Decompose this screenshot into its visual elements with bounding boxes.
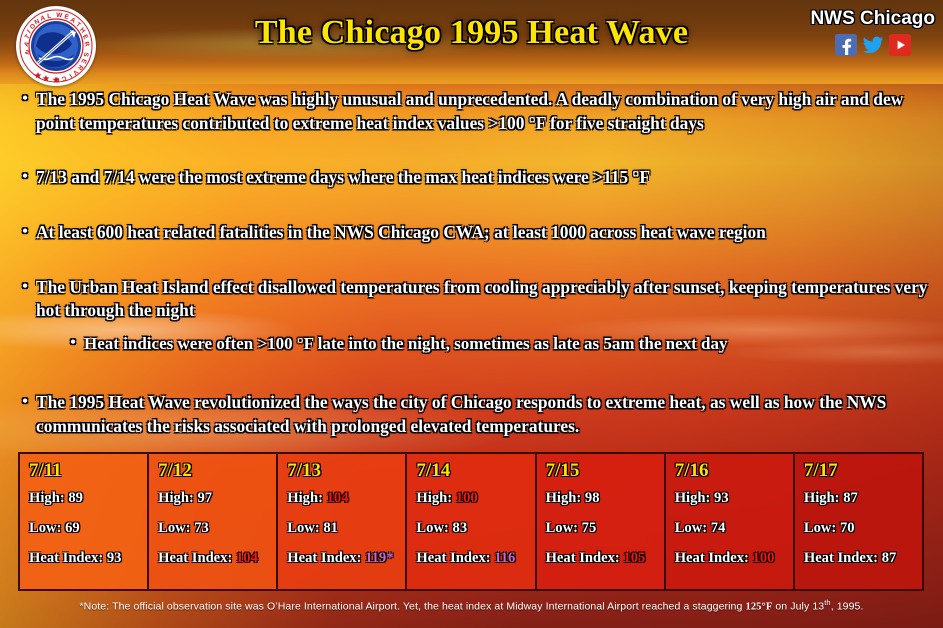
high-row: High: 100 — [416, 490, 525, 507]
low-value: 74 — [711, 520, 726, 536]
facebook-glyph — [835, 34, 857, 56]
heat-index-label: Heat Index: — [416, 550, 490, 566]
low-row: Low: 70 — [804, 520, 913, 537]
heat-index-row: Heat Index: 104 — [158, 550, 267, 567]
footnote-prefix: *Note: The official observation site was… — [79, 601, 745, 613]
low-label: Low: — [804, 520, 836, 536]
bullet-marker-icon: • — [14, 88, 36, 110]
low-label: Low: — [287, 520, 319, 536]
heat-index-label: Heat Index: — [546, 550, 620, 566]
high-row: High: 93 — [675, 490, 784, 507]
page-title: The Chicago 1995 Heat Wave — [0, 14, 943, 52]
list-item: • 7/13 and 7/14 were the most extreme da… — [14, 166, 934, 190]
heat-index-row: Heat Index: 105 — [546, 550, 655, 567]
high-label: High: — [804, 490, 840, 506]
column-date: 7/13 — [287, 460, 396, 482]
table-column-day-1: 7/11 High: 89 Low: 69 Heat Index: 93 — [20, 454, 149, 589]
low-label: Low: — [675, 520, 707, 536]
low-row: Low: 83 — [416, 520, 525, 537]
low-label: Low: — [546, 520, 578, 536]
bullet-marker-icon: • — [14, 276, 36, 298]
table-column-day-6: 7/16 High: 93 Low: 74 Heat Index: 100 — [666, 454, 795, 589]
daily-conditions-table: 7/11 High: 89 Low: 69 Heat Index: 93 7/1… — [18, 452, 924, 591]
slide-canvas: N A T I O N A L W E A T H E R S E — [0, 0, 943, 628]
heat-index-label: Heat Index: — [287, 550, 361, 566]
bullet-text: The 1995 Chicago Heat Wave was highly un… — [36, 88, 934, 135]
heat-index-label: Heat Index: — [158, 550, 232, 566]
high-row: High: 98 — [546, 490, 655, 507]
youtube-glyph — [889, 34, 911, 56]
high-value: 87 — [843, 490, 858, 506]
heat-index-row: Heat Index: 87 — [804, 550, 913, 567]
spacer — [14, 254, 934, 276]
low-label: Low: — [29, 520, 61, 536]
low-row: Low: 74 — [675, 520, 784, 537]
facebook-icon[interactable] — [835, 34, 857, 56]
heat-index-value: 116 — [494, 550, 515, 566]
footnote-mid: on July 13 — [772, 601, 824, 613]
high-value: 100 — [456, 490, 478, 506]
column-date: 7/11 — [29, 460, 138, 482]
high-row: High: 89 — [29, 490, 138, 507]
low-label: Low: — [158, 520, 190, 536]
bullet-text: At least 600 heat related fatalities in … — [36, 221, 934, 245]
high-row: High: 104 — [287, 490, 396, 507]
high-value: 89 — [68, 490, 83, 506]
social-links — [810, 34, 935, 56]
spacer — [14, 199, 934, 221]
high-label: High: — [158, 490, 194, 506]
high-label: High: — [675, 490, 711, 506]
column-date: 7/17 — [804, 460, 913, 482]
heat-index-value: 100 — [753, 550, 775, 566]
column-date: 7/12 — [158, 460, 267, 482]
column-date: 7/15 — [546, 460, 655, 482]
list-item-sub: • Heat indices were often >100 °F late i… — [62, 332, 934, 355]
heat-index-label: Heat Index: — [675, 550, 749, 566]
brand-block: NWS Chicago — [810, 8, 935, 56]
heat-index-row: Heat Index: 100 — [675, 550, 784, 567]
high-label: High: — [287, 490, 323, 506]
bullet-marker-icon: • — [14, 391, 36, 413]
low-row: Low: 69 — [29, 520, 138, 537]
heat-index-value: 93 — [107, 550, 122, 566]
spacer — [14, 377, 934, 391]
youtube-icon[interactable] — [889, 34, 911, 56]
low-value: 73 — [194, 520, 209, 536]
low-value: 69 — [65, 520, 80, 536]
heat-index-value: 104 — [236, 550, 258, 566]
bullet-text: The Urban Heat Island effect disallowed … — [36, 276, 934, 323]
high-label: High: — [29, 490, 65, 506]
list-item: • The 1995 Heat Wave revolutionized the … — [14, 391, 934, 438]
spacer — [14, 355, 934, 377]
table-column-day-2: 7/12 High: 97 Low: 73 Heat Index: 104 — [149, 454, 278, 589]
low-value: 70 — [840, 520, 855, 536]
high-label: High: — [416, 490, 452, 506]
column-date: 7/14 — [416, 460, 525, 482]
heat-index-row: Heat Index: 116 — [416, 550, 525, 567]
table-column-day-4: 7/14 High: 100 Low: 83 Heat Index: 116 — [407, 454, 536, 589]
low-value: 75 — [582, 520, 597, 536]
high-value: 98 — [585, 490, 600, 506]
bullet-text: The 1995 Heat Wave revolutionized the wa… — [36, 391, 934, 438]
heat-index-value: 119* — [365, 550, 393, 566]
low-value: 83 — [453, 520, 468, 536]
low-row: Low: 81 — [287, 520, 396, 537]
heat-index-label: Heat Index: — [804, 550, 878, 566]
heat-index-row: Heat Index: 119* — [287, 550, 396, 567]
bullet-text: 7/13 and 7/14 were the most extreme days… — [36, 166, 934, 190]
footnote-suffix: , 1995. — [831, 601, 864, 613]
bullet-text: Heat indices were often >100 °F late int… — [84, 332, 934, 355]
table-column-day-7: 7/17 High: 87 Low: 70 Heat Index: 87 — [795, 454, 922, 589]
twitter-icon[interactable] — [862, 34, 884, 56]
low-row: Low: 75 — [546, 520, 655, 537]
table-column-day-3: 7/13 High: 104 Low: 81 Heat Index: 119* — [278, 454, 407, 589]
high-label: High: — [546, 490, 582, 506]
twitter-glyph — [862, 34, 884, 56]
heat-index-label: Heat Index: — [29, 550, 103, 566]
low-row: Low: 73 — [158, 520, 267, 537]
high-row: High: 97 — [158, 490, 267, 507]
slide-header: N A T I O N A L W E A T H E R S E — [0, 0, 943, 84]
high-value: 97 — [197, 490, 212, 506]
high-row: High: 87 — [804, 490, 913, 507]
brand-label: NWS Chicago — [810, 8, 935, 30]
heat-index-value: 87 — [882, 550, 897, 566]
bullet-list: • The 1995 Chicago Heat Wave was highly … — [14, 88, 934, 447]
bullet-marker-icon: • — [14, 166, 36, 188]
low-label: Low: — [416, 520, 448, 536]
bullet-marker-icon: • — [14, 221, 36, 243]
low-value: 81 — [323, 520, 338, 536]
list-item: • The 1995 Chicago Heat Wave was highly … — [14, 88, 934, 135]
bullet-marker-icon: • — [62, 332, 84, 354]
list-item: • The Urban Heat Island effect disallowe… — [14, 276, 934, 323]
footnote: *Note: The official observation site was… — [0, 598, 943, 613]
footnote-value: 125°F — [745, 602, 772, 613]
spacer — [14, 144, 934, 166]
table-column-day-5: 7/15 High: 98 Low: 75 Heat Index: 105 — [537, 454, 666, 589]
high-value: 104 — [327, 490, 349, 506]
list-item: • At least 600 heat related fatalities i… — [14, 221, 934, 245]
heat-index-value: 105 — [623, 550, 645, 566]
high-value: 93 — [714, 490, 729, 506]
column-date: 7/16 — [675, 460, 784, 482]
heat-index-row: Heat Index: 93 — [29, 550, 138, 567]
